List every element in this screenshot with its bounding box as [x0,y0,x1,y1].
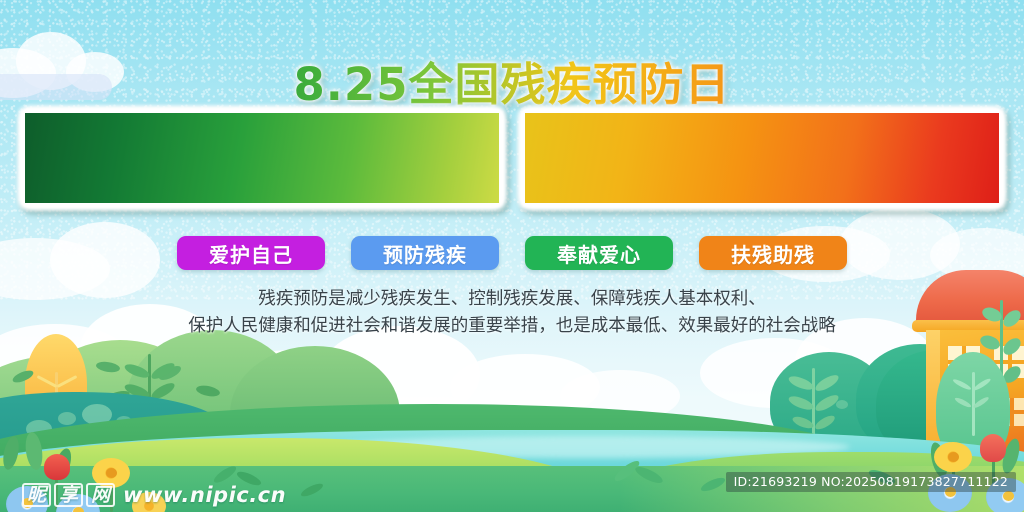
description-line-1: 残疾预防是减少残疾发生、控制残疾发展、保障残疾人基本权利、 [0,286,1024,313]
flower-leaf-a [1,435,22,471]
pill-help-disabled-label: 扶残助残 [731,239,815,268]
flower-tulip-red [44,454,70,480]
main-title-part1: 预防伤害致残 [25,113,499,203]
logo-char-3: 网 [86,483,115,507]
pavilion-window-right-mullion-h [994,360,1024,364]
text-content-area: 8.25全国残疾预防日 预防伤害致残共创健康生活 爱护自己 预防残疾 奉献爱心 … [0,0,1024,350]
logo-char-2: 享 [54,483,83,507]
flower-leaf-b [23,431,44,471]
bush-highlight-dot-c [836,400,848,409]
pill-love-yourself-label: 爱护自己 [209,239,293,268]
description-block: 残疾预防是减少残疾发生、控制残疾发展、保障残疾人基本权利、 保护人民健康和促进社… [0,286,1024,340]
poster-banner: 8.25全国残疾预防日 预防伤害致残共创健康生活 爱护自己 预防残疾 奉献爱心 … [0,0,1024,512]
image-id-badge: ID:21693219 NO:20250819173827711122 [726,472,1016,492]
main-title: 预防伤害致残共创健康生活 [0,118,1024,200]
nipic-logo: 昵 享 网 [22,483,115,507]
logo-char-1: 昵 [22,483,51,507]
flower-daisy-yellow-center [106,468,117,478]
flower-right-tulip [980,434,1006,462]
pill-help-disabled[interactable]: 扶残助残 [699,236,847,270]
pill-offer-love-label: 奉献爱心 [557,239,641,268]
pill-love-yourself[interactable]: 爱护自己 [177,236,325,270]
description-line-2: 保护人民健康和促进社会和谐发展的重要举措，也是成本最低、效果最好的社会战略 [0,313,1024,340]
sub-title: 8.25全国残疾预防日 [0,48,1024,113]
main-title-part2: 共创健康生活 [525,113,999,203]
flower-right-daisy-center [948,452,959,462]
pill-prevent-disability-label: 预防残疾 [383,239,467,268]
pill-prevent-disability[interactable]: 预防残疾 [351,236,499,270]
pill-offer-love[interactable]: 奉献爱心 [525,236,673,270]
watermark-url: www.nipic.cn [123,483,286,507]
bubble-2 [58,412,76,425]
slogan-pill-group: 爱护自己 预防残疾 奉献爱心 扶残助残 [0,236,1024,270]
